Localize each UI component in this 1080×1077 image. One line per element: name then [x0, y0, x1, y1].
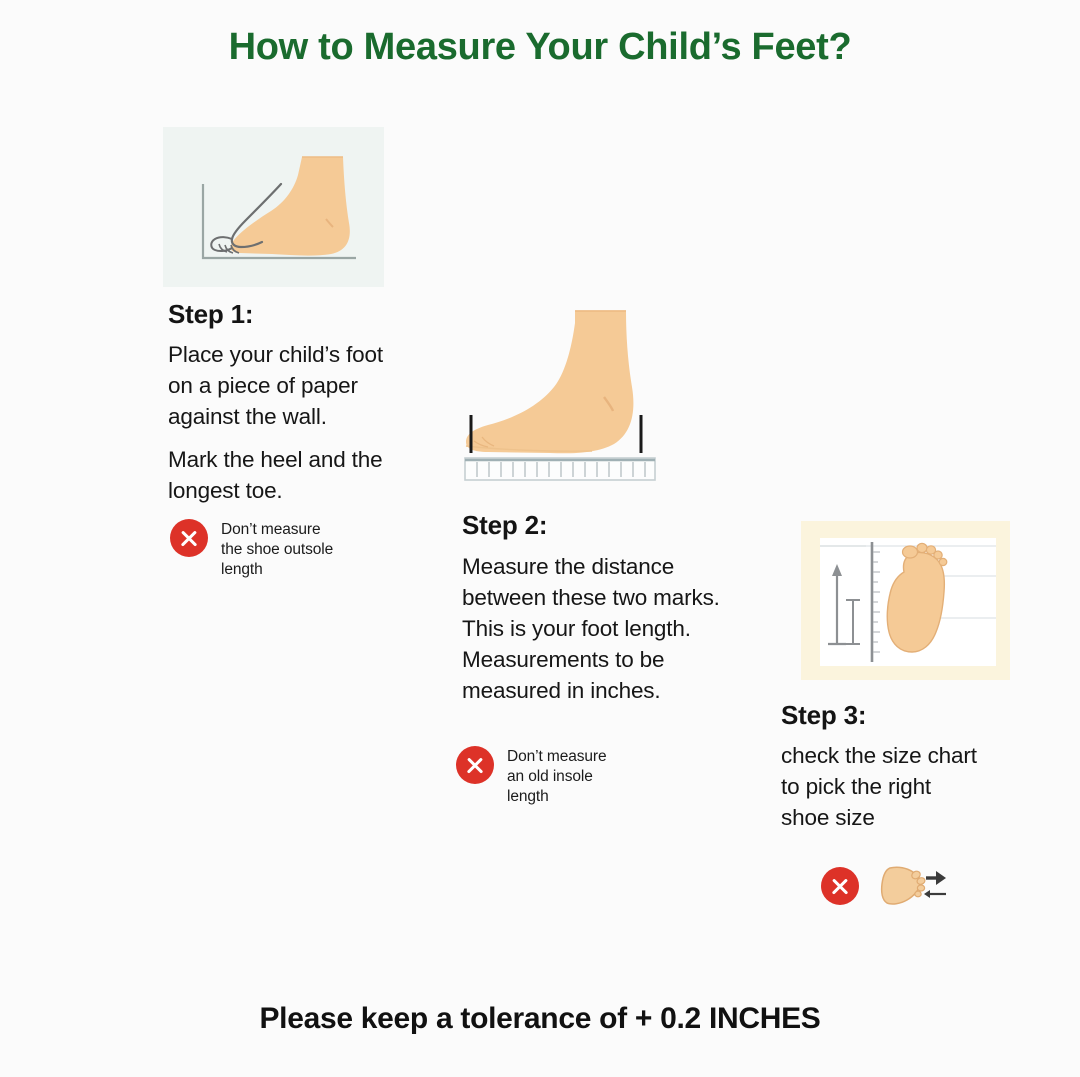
step1-warning-line-1: Don’t measure [221, 520, 333, 540]
red-x-circle-icon [456, 746, 494, 784]
step1-illustration-panel [163, 127, 384, 287]
step3-line-3: shoe size [781, 802, 1031, 833]
step2-line-5: measured in inches. [462, 675, 792, 706]
step2-warning-line-3: length [507, 787, 607, 807]
step2-warning-line-2: an old insole [507, 767, 607, 787]
page-title: How to Measure Your Child’s Feet? [0, 26, 1080, 69]
step1-warning-line-2: the shoe outsole [221, 540, 333, 560]
step2-text-block: Step 2: Measure the distance between the… [462, 510, 792, 706]
step1-line-3: against the wall. [168, 401, 428, 432]
squeezed-foot-arrows-icon [876, 862, 948, 910]
step1-body: Place your child’s foot on a piece of pa… [168, 339, 428, 506]
tolerance-note: Please keep a tolerance of + 0.2 INCHES [0, 1002, 1080, 1036]
step3-panel-inner [820, 538, 996, 666]
step3-warning-badge [821, 862, 1001, 910]
step1-line-2: on a piece of paper [168, 370, 428, 401]
foot-on-ruler-illustration [452, 303, 692, 489]
step1-text-block: Step 1: Place your child’s foot on a pie… [168, 299, 428, 506]
step1-line-4: Mark the heel and the [168, 444, 428, 475]
step1-warning-text: Don’t measure the shoe outsole length [221, 519, 333, 580]
step2-body: Measure the distance between these two m… [462, 551, 792, 706]
step3-heading: Step 3: [781, 700, 1031, 731]
step3-line-2: to pick the right [781, 771, 1031, 802]
step3-illustration-panel [801, 521, 1010, 680]
step2-line-4: Measurements to be [462, 644, 792, 675]
step2-warning-badge: Don’t measure an old insole length [456, 746, 676, 807]
step1-heading: Step 1: [168, 299, 428, 330]
infographic-canvas: How to Measure Your Child’s Feet? Step 1… [0, 0, 1080, 1077]
step1-line-1: Place your child’s foot [168, 339, 428, 370]
step1-warning-badge: Don’t measure the shoe outsole length [170, 519, 380, 580]
squeezed-foot-arrows-glyph [876, 862, 948, 910]
step2-illustration-panel [452, 303, 692, 489]
red-x-circle-icon [821, 867, 859, 905]
red-x-circle-icon [170, 519, 208, 557]
step2-line-3: This is your foot length. [462, 613, 792, 644]
step2-warning-line-1: Don’t measure [507, 747, 607, 767]
step2-heading: Step 2: [462, 510, 792, 541]
step1-warning-line-3: length [221, 560, 333, 580]
step3-line-1: check the size chart [781, 740, 1031, 771]
step2-line-2: between these two marks. [462, 582, 792, 613]
step1-line-5: longest toe. [168, 475, 428, 506]
step3-body: check the size chart to pick the right s… [781, 740, 1031, 833]
step3-text-block: Step 3: check the size chart to pick the… [781, 700, 1031, 833]
foot-against-wall-illustration [163, 127, 384, 287]
step2-line-1: Measure the distance [462, 551, 792, 582]
step2-warning-text: Don’t measure an old insole length [507, 746, 607, 807]
footprint-on-size-chart-illustration [820, 538, 996, 666]
